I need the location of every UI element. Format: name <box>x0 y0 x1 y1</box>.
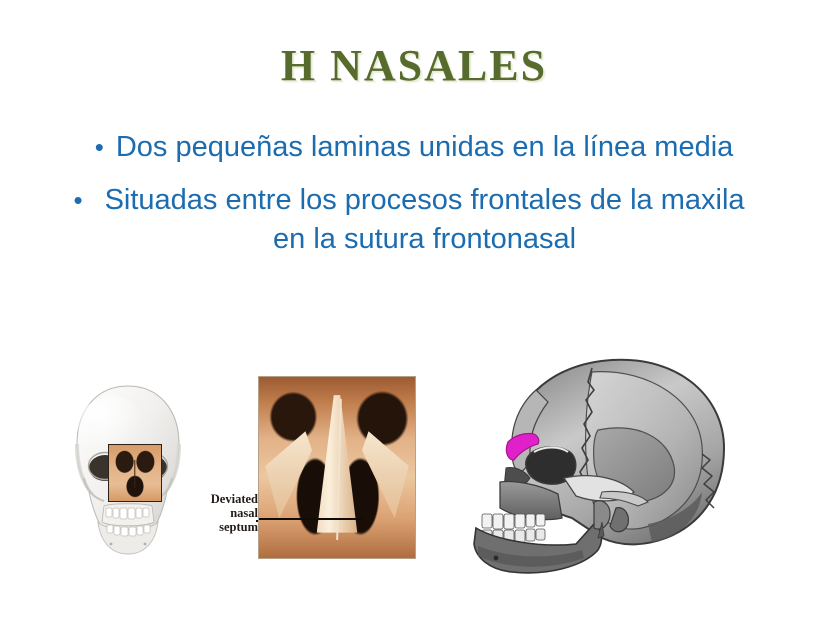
nasal-region-highlight-box <box>108 444 162 502</box>
page-title: H NASALES <box>0 44 828 88</box>
list-item: • Dos pequeñas laminas unidas en la líne… <box>72 128 756 167</box>
bullet-text: Situadas entre los procesos frontales de… <box>95 181 755 259</box>
nasal-wing-right <box>362 431 409 518</box>
nasal-wing-left <box>265 431 312 518</box>
bullet-marker-icon: • <box>73 181 82 219</box>
septum-label-line-3: septum <box>192 520 258 534</box>
septum-label-line-1: Deviated <box>192 492 258 506</box>
bullet-marker-icon: • <box>95 128 104 166</box>
presentation-slide: H NASALES • Dos pequeñas laminas unidas … <box>0 0 828 621</box>
anterior-skull-figure <box>62 382 194 572</box>
list-item: • Situadas entre los procesos frontales … <box>72 181 756 259</box>
bullet-text: Dos pequeñas laminas unidas en la línea … <box>116 128 733 167</box>
bullet-list: • Dos pequeñas laminas unidas en la líne… <box>72 128 756 273</box>
septum-label-line-2: nasal <box>192 506 258 520</box>
lateral-skull-figure <box>452 342 782 592</box>
magnified-nasal-cavity-figure <box>258 376 416 559</box>
inset-leader-line <box>259 518 362 520</box>
septum-label: Deviated nasal septum <box>192 492 258 534</box>
lateral-skull-graphic <box>452 342 782 592</box>
figure-row: Deviated nasal septum <box>0 340 828 621</box>
